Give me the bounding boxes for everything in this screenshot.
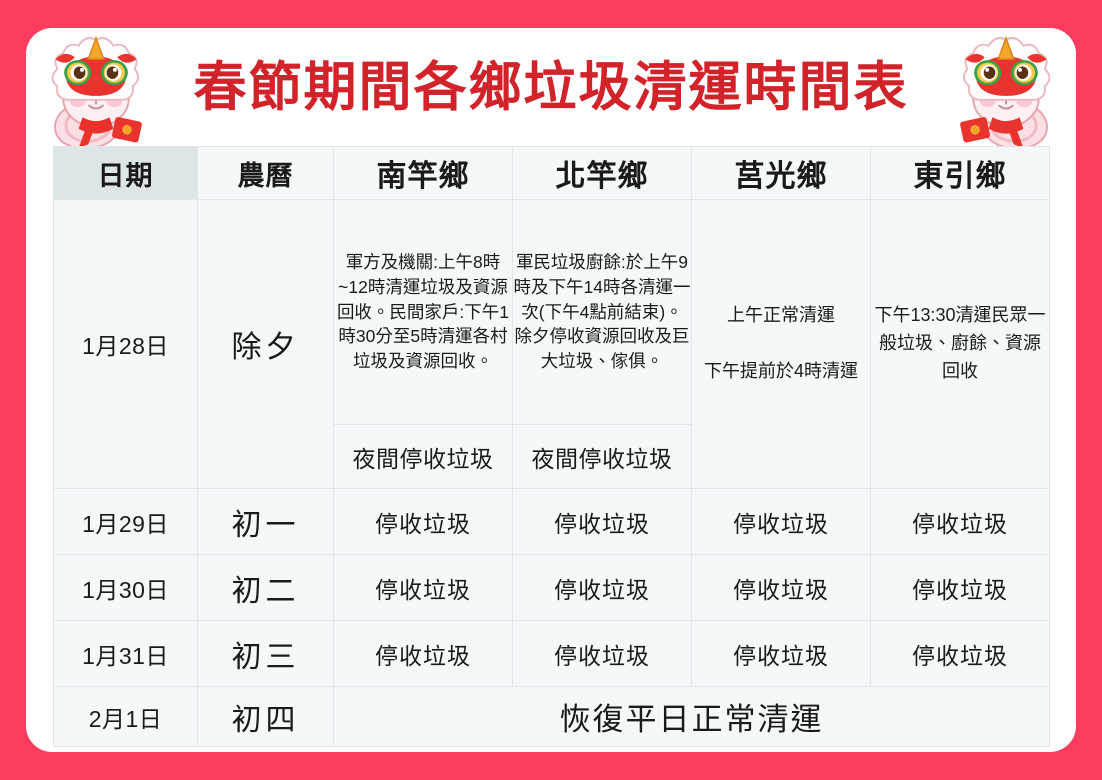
cell-lunar-1: 除夕 (198, 200, 334, 489)
cell-nangan-4: 停收垃圾 (334, 621, 513, 687)
poster-header: 春節期間各鄉垃圾清運時間表 (26, 28, 1076, 146)
poster-background: 春節期間各鄉垃圾清運時間表 (0, 0, 1102, 780)
cell-date-1: 1月28日 (54, 200, 198, 489)
cell-date-3: 1月30日 (54, 555, 198, 621)
column-header-nangan: 南竿鄉 (334, 147, 513, 200)
cell-eve-night-nangan: 夜間停收垃圾 (334, 425, 513, 489)
cell-date-4: 1月31日 (54, 621, 198, 687)
column-header-dongyin: 東引鄉 (871, 147, 1050, 200)
cell-lunar-3: 初二 (198, 555, 334, 621)
cell-juguang-2: 停收垃圾 (692, 489, 871, 555)
column-header-beigan: 北竿鄉 (513, 147, 692, 200)
cell-dongyin-3: 停收垃圾 (871, 555, 1050, 621)
cell-dongyin-2: 停收垃圾 (871, 489, 1050, 555)
cell-juguang-3: 停收垃圾 (692, 555, 871, 621)
cell-eve-juguang: 上午正常清運 下午提前於4時清運 (692, 200, 871, 489)
table-row: 2月1日 初四 恢復平日正常清運 (54, 687, 1050, 747)
cell-dongyin-4: 停收垃圾 (871, 621, 1050, 687)
column-header-lunar: 農曆 (198, 147, 334, 200)
lion-dance-snake-mascot-right (948, 34, 1064, 154)
cell-date-5: 2月1日 (54, 687, 198, 747)
page-title: 春節期間各鄉垃圾清運時間表 (26, 28, 1076, 146)
table-header-row: 日期 農曆 南竿鄉 北竿鄉 莒光鄉 東引鄉 (54, 147, 1050, 200)
garbage-collection-schedule-table: 日期 農曆 南竿鄉 北竿鄉 莒光鄉 東引鄉 1月28日 除夕 軍方及機關:上午8… (53, 146, 1050, 747)
cell-eve-dongyin: 下午13:30清運民眾一般垃圾、廚餘、資源回收 (871, 200, 1050, 489)
cell-nangan-2: 停收垃圾 (334, 489, 513, 555)
table-row-eve-detail: 1月28日 除夕 軍方及機關:上午8時~12時清運垃圾及資源回收。民間家戶:下午… (54, 200, 1050, 425)
column-header-juguang: 莒光鄉 (692, 147, 871, 200)
table-row: 1月30日 初二 停收垃圾 停收垃圾 停收垃圾 停收垃圾 (54, 555, 1050, 621)
cell-nangan-3: 停收垃圾 (334, 555, 513, 621)
table-row: 1月31日 初三 停收垃圾 停收垃圾 停收垃圾 停收垃圾 (54, 621, 1050, 687)
poster-card: 春節期間各鄉垃圾清運時間表 (26, 28, 1076, 752)
cell-eve-nangan: 軍方及機關:上午8時~12時清運垃圾及資源回收。民間家戶:下午1時30分至5時清… (334, 200, 513, 425)
table-row: 1月29日 初一 停收垃圾 停收垃圾 停收垃圾 停收垃圾 (54, 489, 1050, 555)
cell-lunar-2: 初一 (198, 489, 334, 555)
cell-lunar-5: 初四 (198, 687, 334, 747)
cell-resume-normal: 恢復平日正常清運 (334, 687, 1050, 747)
cell-beigan-2: 停收垃圾 (513, 489, 692, 555)
cell-lunar-4: 初三 (198, 621, 334, 687)
cell-juguang-4: 停收垃圾 (692, 621, 871, 687)
cell-eve-beigan: 軍民垃圾廚餘:於上午9時及下午14時各清運一次(下午4點前結束)。除夕停收資源回… (513, 200, 692, 425)
cell-beigan-3: 停收垃圾 (513, 555, 692, 621)
cell-date-2: 1月29日 (54, 489, 198, 555)
column-header-date: 日期 (54, 147, 198, 200)
cell-eve-night-beigan: 夜間停收垃圾 (513, 425, 692, 489)
cell-beigan-4: 停收垃圾 (513, 621, 692, 687)
